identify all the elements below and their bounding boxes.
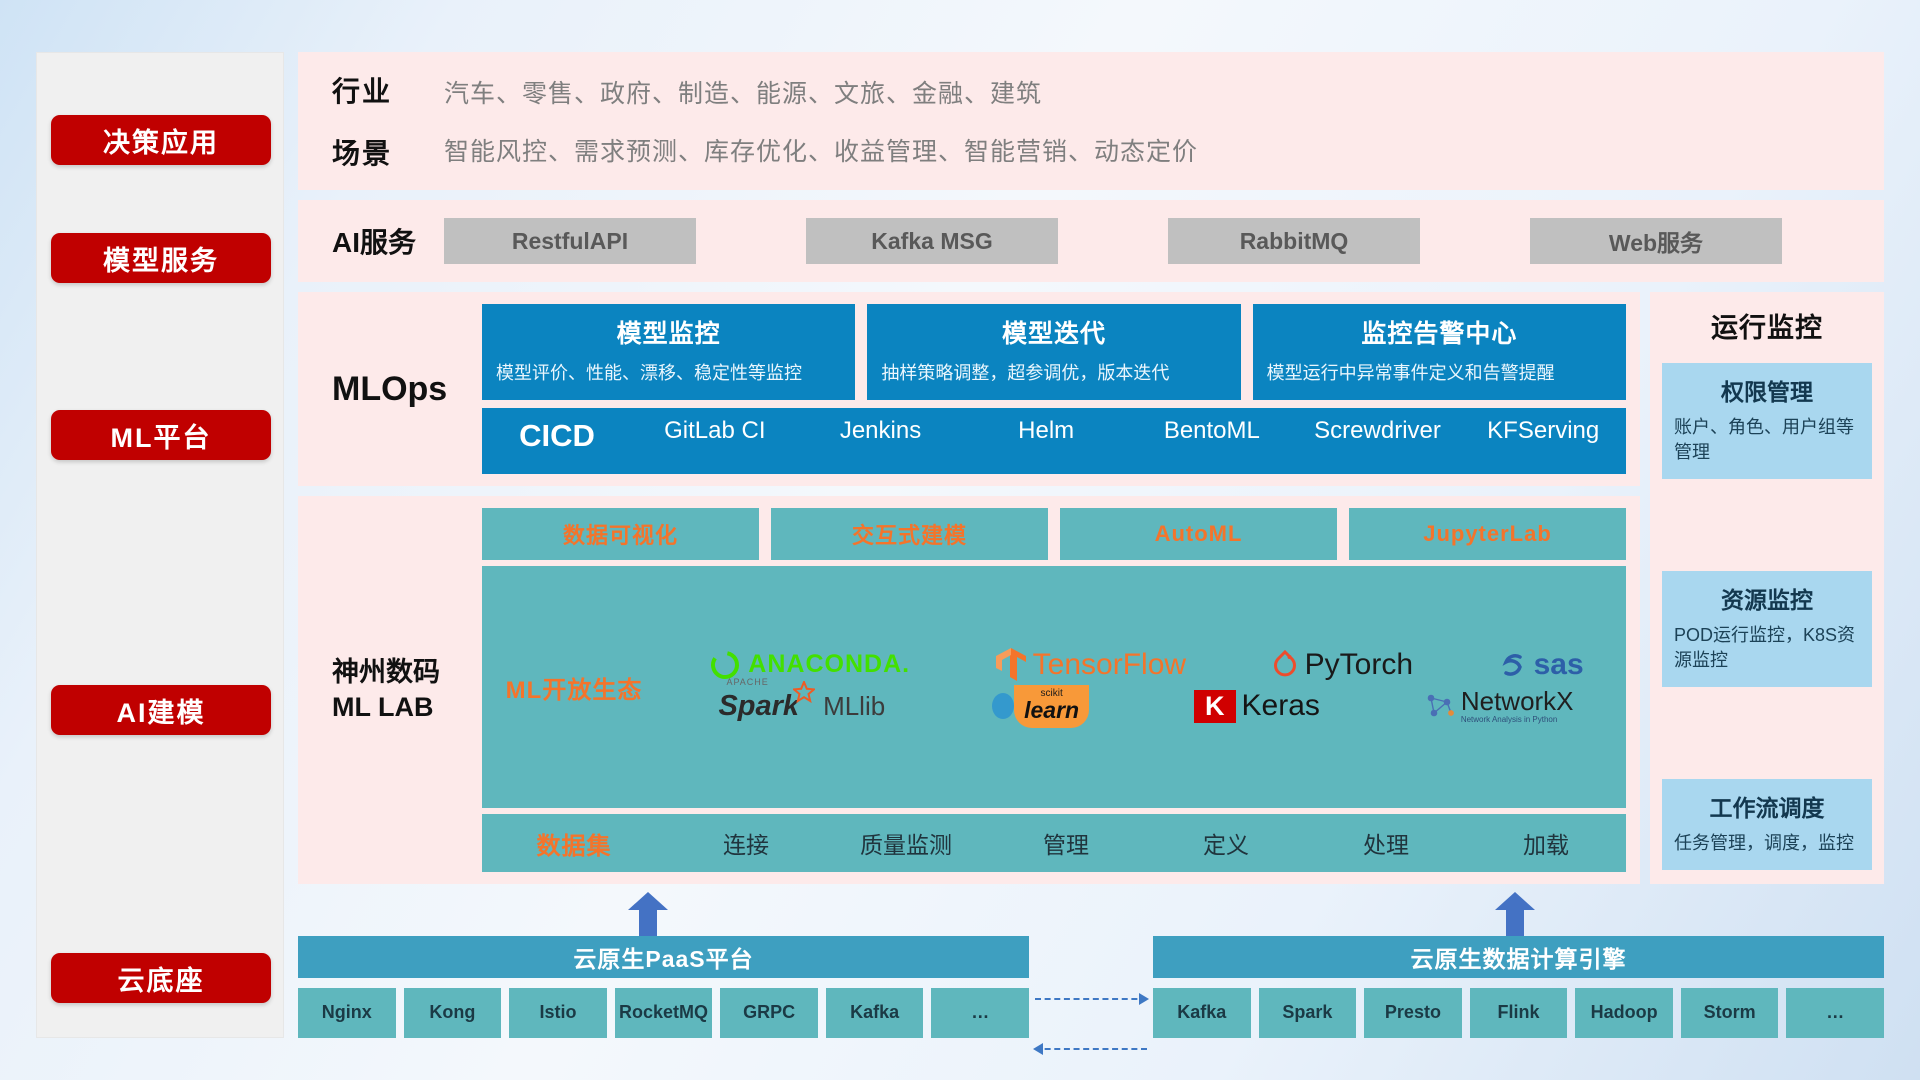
spark-logo-text: Spark [718,690,799,722]
cicd-items: GitLab CI Jenkins Helm BentoML Screwdriv… [632,418,1626,443]
networkx-mark-icon [1425,691,1455,721]
pytorch-logo: PyTorch [1271,648,1413,682]
dataset-item-connect[interactable]: 连接 [666,826,826,860]
cicd-item-screwdriver[interactable]: Screwdriver [1295,418,1461,443]
dashed-arrow-left-icon [1035,1048,1147,1050]
cicd-item-helm[interactable]: Helm [963,418,1129,443]
cloud-base-block: 云原生PaaS平台 Nginx Kong Istio RocketMQ GRPC… [298,936,1884,1038]
scenario-value: 智能风控、需求预测、库存优化、收益管理、智能营销、动态定价 [444,132,1198,168]
dataset-item-processing[interactable]: 处理 [1306,826,1466,860]
dataset-items: 连接 质量监测 管理 定义 处理 加载 [666,826,1626,860]
ml-lab-band: 神州数码ML LAB 数据可视化 交互式建模 AutoML JupyterLab… [298,496,1640,884]
tensorflow-logo-text: TensorFlow [1033,648,1186,682]
mlops-card-title: 模型迭代 [881,314,1226,350]
paas-chip-nginx[interactable]: Nginx [298,988,396,1038]
ai-service-label: AI服务 [332,221,444,261]
rail-item-decision-app[interactable]: 决策应用 [51,115,271,165]
layer-rail: 决策应用 模型服务 ML平台 AI建模 云底座 [36,52,284,1038]
mid-block: MLOps 模型监控 模型评价、性能、漂移、稳定性等监控 模型迭代 抽样策略调整… [298,292,1884,884]
upward-arrows [298,892,1884,936]
ai-service-kafka-msg[interactable]: Kafka MSG [806,218,1058,264]
engine-chip-more[interactable]: … [1786,988,1884,1038]
paas-chip-kafka[interactable]: Kafka [826,988,924,1038]
mlops-right: 模型监控 模型评价、性能、漂移、稳定性等监控 模型迭代 抽样策略调整，超参调优，… [482,304,1626,474]
mlops-card-model-iteration[interactable]: 模型迭代 抽样策略调整，超参调优，版本迭代 [867,304,1240,400]
engine-chip-hadoop[interactable]: Hadoop [1575,988,1673,1038]
engine-chip-kafka[interactable]: Kafka [1153,988,1251,1038]
tensorflow-mark-icon [995,647,1027,683]
spark-star-icon [793,681,815,703]
mlops-card-model-monitoring[interactable]: 模型监控 模型评价、性能、漂移、稳定性等监控 [482,304,855,400]
dataset-row: 数据集 连接 质量监测 管理 定义 处理 加载 [482,814,1626,872]
rail-item-ai-modeling[interactable]: AI建模 [51,685,271,735]
scene-values: 汽车、零售、政府、制造、能源、文旅、金融、建筑 智能风控、需求预测、库存优化、收… [444,74,1198,168]
mlops-label: MLOps [332,304,482,474]
ai-service-band: AI服务 RestfulAPI Kafka MSG RabbitMQ Web服务 [298,200,1884,282]
mlops-band: MLOps 模型监控 模型评价、性能、漂移、稳定性等监控 模型迭代 抽样策略调整… [298,292,1640,486]
networkx-logo: NetworkX Network Analysis in Python [1425,688,1574,724]
dataset-title: 数据集 [482,826,666,861]
runtime-monitoring-panel: 运行监控 权限管理 账户、角色、用户组等管理 资源监控 POD运行监控，K8S资… [1650,292,1884,884]
cicd-item-jenkins[interactable]: Jenkins [798,418,964,443]
sas-logo: sas [1498,648,1584,682]
mlops-card-desc: 抽样策略调整，超参调优，版本迭代 [881,360,1226,386]
monitor-card-title: 权限管理 [1674,373,1860,407]
networkx-logo-text: NetworkX [1461,688,1574,715]
monitor-card-permission-management[interactable]: 权限管理 账户、角色、用户组等管理 [1662,363,1872,479]
mlops-card-title: 监控告警中心 [1267,314,1612,350]
dataset-item-loading[interactable]: 加载 [1466,826,1626,860]
keras-logo-text: Keras [1242,689,1320,723]
monitor-card-desc: 账户、角色、用户组等管理 [1674,415,1860,465]
spark-apache-text: APACHE [726,677,768,687]
monitor-card-title: 工作流调度 [1674,789,1860,823]
dataset-item-definition[interactable]: 定义 [1146,826,1306,860]
keras-mark-icon: K [1194,690,1236,723]
paas-column: 云原生PaaS平台 Nginx Kong Istio RocketMQ GRPC… [298,936,1029,1038]
networkx-tagline: Network Analysis in Python [1461,716,1574,724]
engine-chip-flink[interactable]: Flink [1470,988,1568,1038]
dashed-arrow-right-icon [1035,998,1147,1000]
monitor-card-title: 资源监控 [1674,581,1860,615]
ml-lab-tool-automl[interactable]: AutoML [1060,508,1337,560]
paas-chip-grpc[interactable]: GRPC [720,988,818,1038]
keras-logo: K Keras [1194,689,1320,723]
learn-text: learn [1024,699,1079,722]
runtime-monitoring-cards: 权限管理 账户、角色、用户组等管理 资源监控 POD运行监控，K8S资源监控 工… [1662,363,1872,870]
scene-band: 行业 场景 汽车、零售、政府、制造、能源、文旅、金融、建筑 智能风控、需求预测、… [298,52,1884,190]
ml-lab-tools: 数据可视化 交互式建模 AutoML JupyterLab [482,508,1626,560]
engine-chip-storm[interactable]: Storm [1681,988,1779,1038]
ml-lab-tool-data-visualization[interactable]: 数据可视化 [482,508,759,560]
up-arrow-paas-icon [628,892,668,936]
scikit-learn-logo: scikit learn [990,685,1089,728]
industry-value: 汽车、零售、政府、制造、能源、文旅、金融、建筑 [444,74,1198,110]
monitor-card-resource-monitoring[interactable]: 资源监控 POD运行监控，K8S资源监控 [1662,571,1872,687]
paas-chip-istio[interactable]: Istio [509,988,607,1038]
up-arrow-engine-icon [1495,892,1535,936]
ecosystem-logos: ANACONDA. TensorFlow [666,647,1626,728]
cicd-item-gitlab-ci[interactable]: GitLab CI [632,418,798,443]
scikit-orange-blob-icon: scikit learn [1014,685,1089,728]
rail-item-cloud-base[interactable]: 云底座 [51,953,271,1003]
diagram-content: 行业 场景 汽车、零售、政府、制造、能源、文旅、金融、建筑 智能风控、需求预测、… [298,52,1884,1038]
tensorflow-logo: TensorFlow [995,647,1186,683]
mlops-cards: 模型监控 模型评价、性能、漂移、稳定性等监控 模型迭代 抽样策略调整，超参调优，… [482,304,1626,400]
ml-open-ecosystem: ML开放生态 ANACONDA. [482,566,1626,808]
industry-label: 行业 [332,70,444,110]
runtime-monitoring-title: 运行监控 [1662,306,1872,345]
ai-service-buttons: RestfulAPI Kafka MSG RabbitMQ Web服务 [444,218,1856,264]
cicd-title: CICD [482,418,632,454]
monitor-card-desc: 任务管理，调度，监控 [1674,831,1860,856]
engine-chip-presto[interactable]: Presto [1364,988,1462,1038]
spark-mark: Spark APACHE [718,690,799,723]
mlops-card-desc: 模型运行中异常事件定义和告警提醒 [1267,360,1612,386]
engine-title: 云原生数据计算引擎 [1153,936,1884,978]
ecosystem-logo-row-1: ANACONDA. TensorFlow [666,647,1626,683]
ml-lab-tool-interactive-modeling[interactable]: 交互式建模 [771,508,1048,560]
mlops-card-alert-center[interactable]: 监控告警中心 模型运行中异常事件定义和告警提醒 [1253,304,1626,400]
ml-lab-label: 神州数码ML LAB [332,508,482,872]
cicd-item-bentoml[interactable]: BentoML [1129,418,1295,443]
dataset-item-quality-monitoring[interactable]: 质量监测 [826,826,986,860]
rail-item-model-service[interactable]: 模型服务 [51,233,271,283]
cloud-base-row: 云原生PaaS平台 Nginx Kong Istio RocketMQ GRPC… [298,936,1884,1038]
monitor-card-desc: POD运行监控，K8S资源监控 [1674,623,1860,673]
paas-chip-kong[interactable]: Kong [404,988,502,1038]
paas-chip-rocketmq[interactable]: RocketMQ [615,988,713,1038]
pytorch-mark-icon [1271,649,1299,681]
ai-service-rabbitmq[interactable]: RabbitMQ [1168,218,1420,264]
scene-labels: 行业 场景 [332,70,444,172]
sas-logo-text: sas [1534,648,1584,682]
monitor-card-workflow-scheduling[interactable]: 工作流调度 任务管理，调度，监控 [1662,779,1872,870]
ml-lab-tool-jupyterlab[interactable]: JupyterLab [1349,508,1626,560]
pytorch-logo-text: PyTorch [1305,648,1413,682]
scikit-blue-blob-icon [990,689,1016,723]
ai-service-web[interactable]: Web服务 [1530,218,1782,264]
engine-chips: Kafka Spark Presto Flink Hadoop Storm … [1153,988,1884,1038]
ml-lab-label-text: 神州数码ML LAB [332,655,440,725]
cicd-item-kfserving[interactable]: KFServing [1460,418,1626,443]
paas-chip-more[interactable]: … [931,988,1029,1038]
mid-left: MLOps 模型监控 模型评价、性能、漂移、稳定性等监控 模型迭代 抽样策略调整… [298,292,1640,884]
cicd-row: CICD GitLab CI Jenkins Helm BentoML Scre… [482,408,1626,474]
ecosystem-logo-row-2: Spark APACHE MLlib [666,685,1626,728]
mlops-card-desc: 模型评价、性能、漂移、稳定性等监控 [496,360,841,386]
architecture-diagram: 决策应用 模型服务 ML平台 AI建模 云底座 行业 场景 汽车、零售、政府、制… [0,0,1920,1080]
spark-mllib-logo: Spark APACHE MLlib [718,690,885,723]
rail-item-ml-platform[interactable]: ML平台 [51,410,271,460]
paas-title: 云原生PaaS平台 [298,936,1029,978]
paas-chips: Nginx Kong Istio RocketMQ GRPC Kafka … [298,988,1029,1038]
scenario-label: 场景 [332,132,444,172]
engine-column: 云原生数据计算引擎 Kafka Spark Presto Flink Hadoo… [1153,936,1884,1038]
ai-service-restfulapi[interactable]: RestfulAPI [444,218,696,264]
ml-lab-right: 数据可视化 交互式建模 AutoML JupyterLab ML开放生态 [482,508,1626,872]
sas-mark-icon [1498,650,1528,680]
ml-open-ecosystem-title: ML开放生态 [482,670,666,705]
mllib-logo-text: MLlib [823,691,885,722]
dataset-item-management[interactable]: 管理 [986,826,1146,860]
mlops-card-title: 模型监控 [496,314,841,350]
anaconda-logo-text: ANACONDA. [748,650,910,679]
engine-chip-spark[interactable]: Spark [1259,988,1357,1038]
